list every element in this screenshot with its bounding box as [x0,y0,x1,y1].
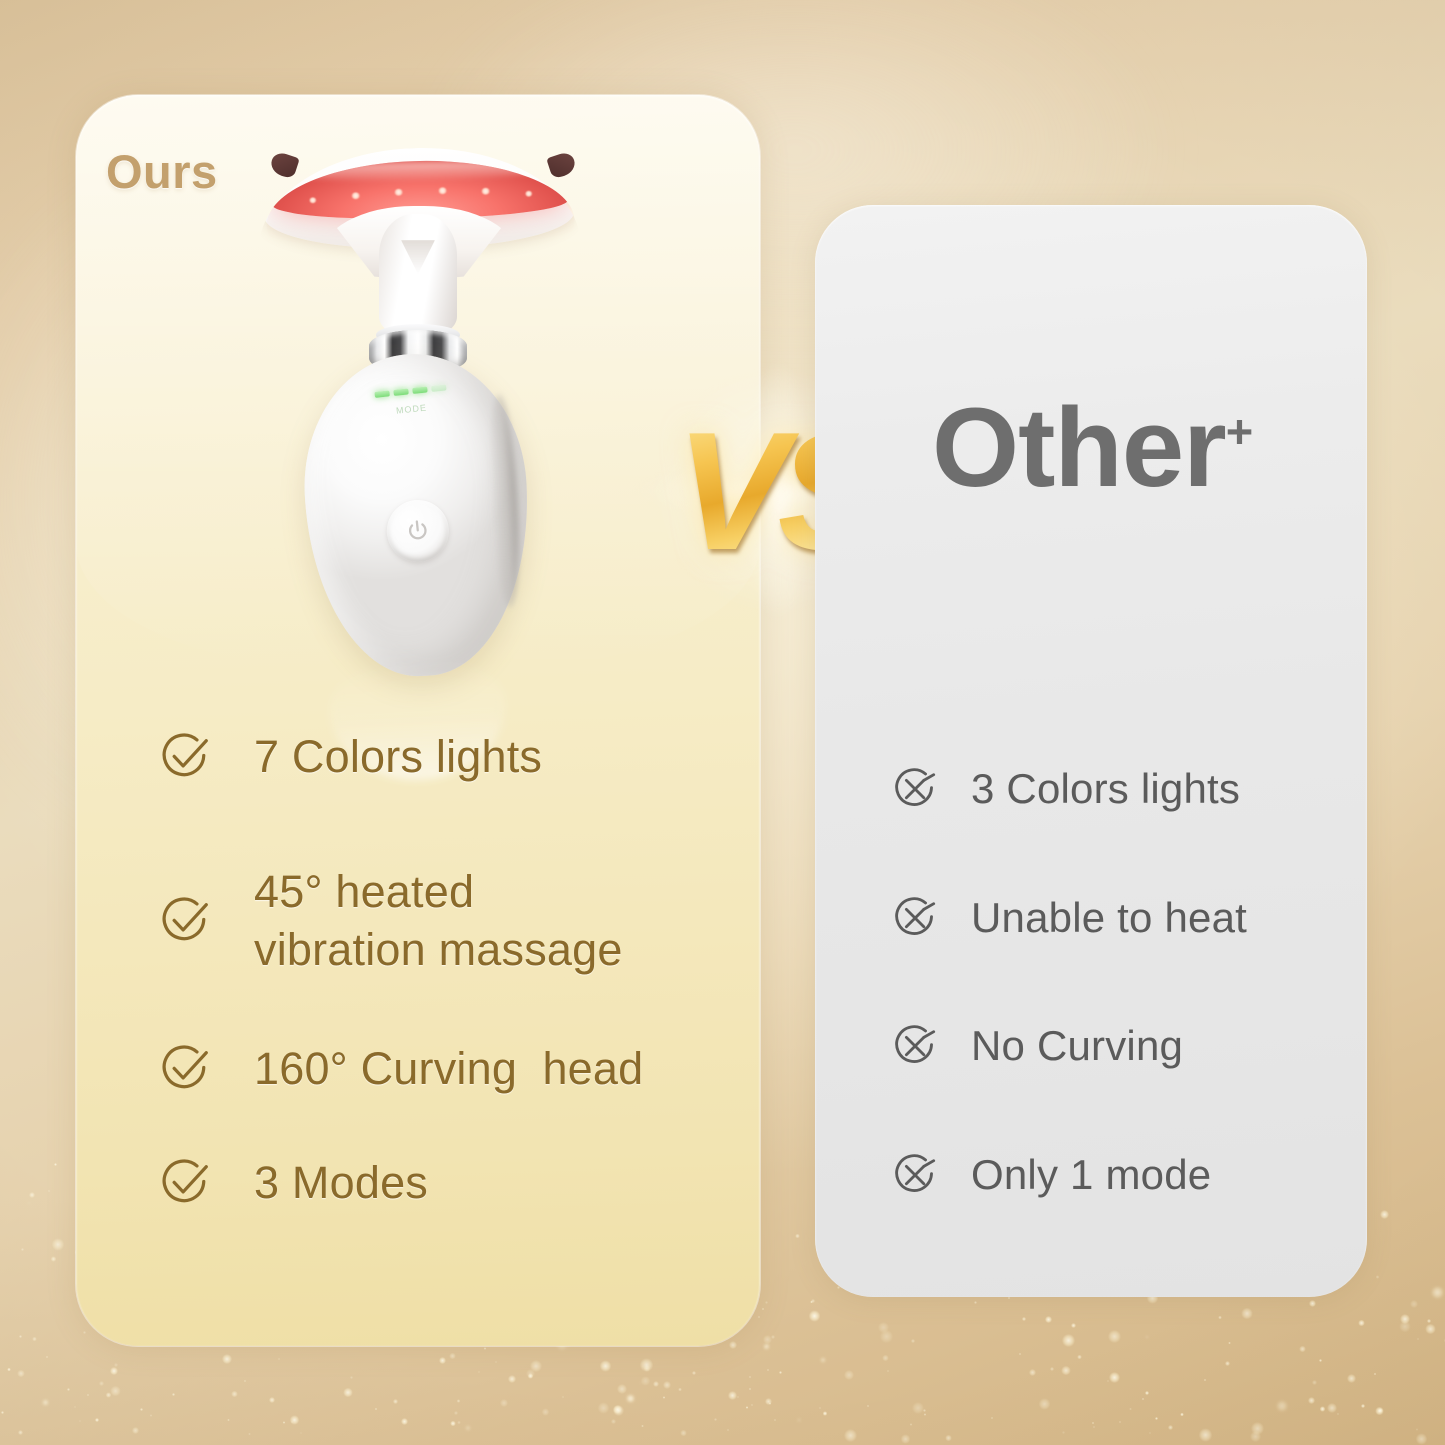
device-head-tip-right [546,151,578,180]
cross-circle-icon [893,767,937,811]
other-title: Other+ [932,392,1253,504]
cross-circle-icon [893,1024,937,1068]
power-button-icon [384,497,452,565]
other-feature-item: No Curving [893,1019,1363,1074]
ours-feature-item: 7 Colors lights [160,728,740,787]
other-feature-label: No Curving [971,1019,1183,1074]
ours-feature-item: 3 Modes [160,1154,740,1213]
device-neck [379,214,457,336]
other-title-superscript: + [1226,405,1253,458]
other-feature-label: 3 Colors lights [971,762,1240,817]
ours-feature-list: 7 Colors lights45° heated vibration mass… [160,728,740,1213]
cross-circle-icon [893,1153,937,1197]
ours-feature-item: 160° Curving head [160,1040,740,1099]
other-feature-label: Only 1 mode [971,1148,1211,1203]
check-circle-icon [160,732,210,782]
check-circle-icon [160,896,210,946]
product-device-image: MODE [258,148,588,668]
check-circle-icon [160,1044,210,1094]
other-feature-list: 3 Colors lightsUnable to heatNo CurvingO… [893,762,1363,1202]
other-title-text: Other [932,385,1226,510]
device-indicator-sublabel: MODE [396,403,428,416]
check-circle-icon [160,1158,210,1208]
device-head-tip-left [268,151,300,180]
other-feature-item: Unable to heat [893,891,1363,946]
ours-feature-label: 7 Colors lights [254,728,542,787]
cross-circle-icon [893,896,937,940]
ours-title: Ours [106,144,218,199]
ours-feature-label: 45° heated vibration massage [254,863,623,980]
ours-feature-label: 160° Curving head [254,1040,643,1099]
comparison-infographic: Ours MODE [0,0,1445,1445]
device-led-dots [307,182,532,200]
other-feature-label: Unable to heat [971,891,1247,946]
ours-feature-item: 45° heated vibration massage [160,863,740,980]
other-feature-item: 3 Colors lights [893,762,1363,817]
device-indicator-lights [374,384,446,397]
other-feature-item: Only 1 mode [893,1148,1363,1203]
device-body-edge-highlight [486,394,523,608]
device-body: MODE [298,348,537,681]
ours-feature-label: 3 Modes [254,1154,428,1213]
